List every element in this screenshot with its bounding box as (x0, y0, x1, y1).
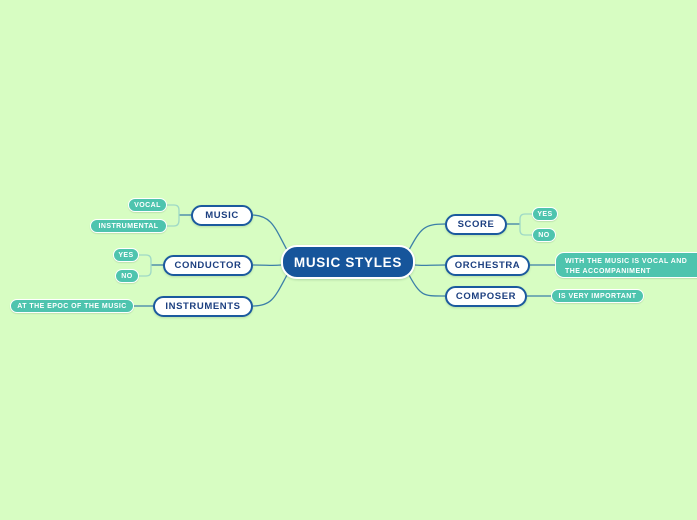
branch-node-orchestra[interactable]: ORCHESTRA (445, 255, 530, 276)
root-node-label: MUSIC STYLES (294, 255, 402, 270)
leaf-node-epoc-of-the-music-label: AT THE EPOC OF THE MUSIC (17, 303, 126, 310)
leaf-node-composer-importance[interactable]: IS VERY IMPORTANT (551, 289, 644, 303)
leaf-node-epoc-of-the-music[interactable]: AT THE EPOC OF THE MUSIC (10, 299, 134, 313)
leaf-node-vocal[interactable]: VOCAL (128, 198, 167, 212)
leaf-node-score-no-label: NO (538, 232, 549, 239)
leaf-node-score-no[interactable]: NO (532, 228, 556, 242)
branch-node-score[interactable]: SCORE (445, 214, 507, 235)
root-node[interactable]: MUSIC STYLES (281, 245, 415, 279)
leaf-node-conductor-yes-label: YES (118, 252, 133, 259)
branch-node-music-label: MUSIC (205, 210, 239, 221)
branch-node-orchestra-label: ORCHESTRA (455, 260, 521, 271)
mindmap-canvas: MUSIC STYLES MUSIC VOCAL INSTRUMENTAL CO… (0, 0, 697, 520)
branch-node-composer-label: COMPOSER (456, 291, 516, 302)
branch-node-conductor[interactable]: CONDUCTOR (163, 255, 253, 276)
branch-node-music[interactable]: MUSIC (191, 205, 253, 226)
edge-root-instruments (253, 275, 287, 306)
edge-root-score (409, 224, 445, 250)
leaf-node-conductor-yes[interactable]: YES (113, 248, 139, 262)
edge-root-composer (409, 275, 445, 296)
branch-node-conductor-label: CONDUCTOR (175, 260, 242, 271)
leaf-node-conductor-no[interactable]: NO (115, 269, 139, 283)
bracket-score (520, 214, 532, 235)
leaf-node-score-yes[interactable]: YES (532, 207, 558, 221)
leaf-node-conductor-no-label: NO (121, 273, 132, 280)
branch-node-score-label: SCORE (458, 219, 495, 230)
branch-node-instruments-label: INSTRUMENTS (165, 301, 240, 312)
leaf-node-orchestra-description-label: WITH THE MUSIC IS VOCAL AND THE ACCOMPAN… (565, 258, 687, 275)
bracket-conductor (139, 255, 151, 276)
leaf-node-vocal-label: VOCAL (134, 202, 161, 209)
leaf-node-instrumental-label: INSTRUMENTAL (98, 223, 158, 230)
branch-node-composer[interactable]: COMPOSER (445, 286, 527, 307)
branch-node-instruments[interactable]: INSTRUMENTS (153, 296, 253, 317)
leaf-node-instrumental[interactable]: INSTRUMENTAL (90, 219, 167, 233)
leaf-node-composer-importance-label: IS VERY IMPORTANT (559, 293, 637, 300)
leaf-node-score-yes-label: YES (537, 211, 552, 218)
edge-root-music (253, 215, 287, 250)
leaf-node-orchestra-description[interactable]: WITH THE MUSIC IS VOCAL AND THE ACCOMPAN… (555, 252, 697, 278)
bracket-music (167, 205, 179, 226)
